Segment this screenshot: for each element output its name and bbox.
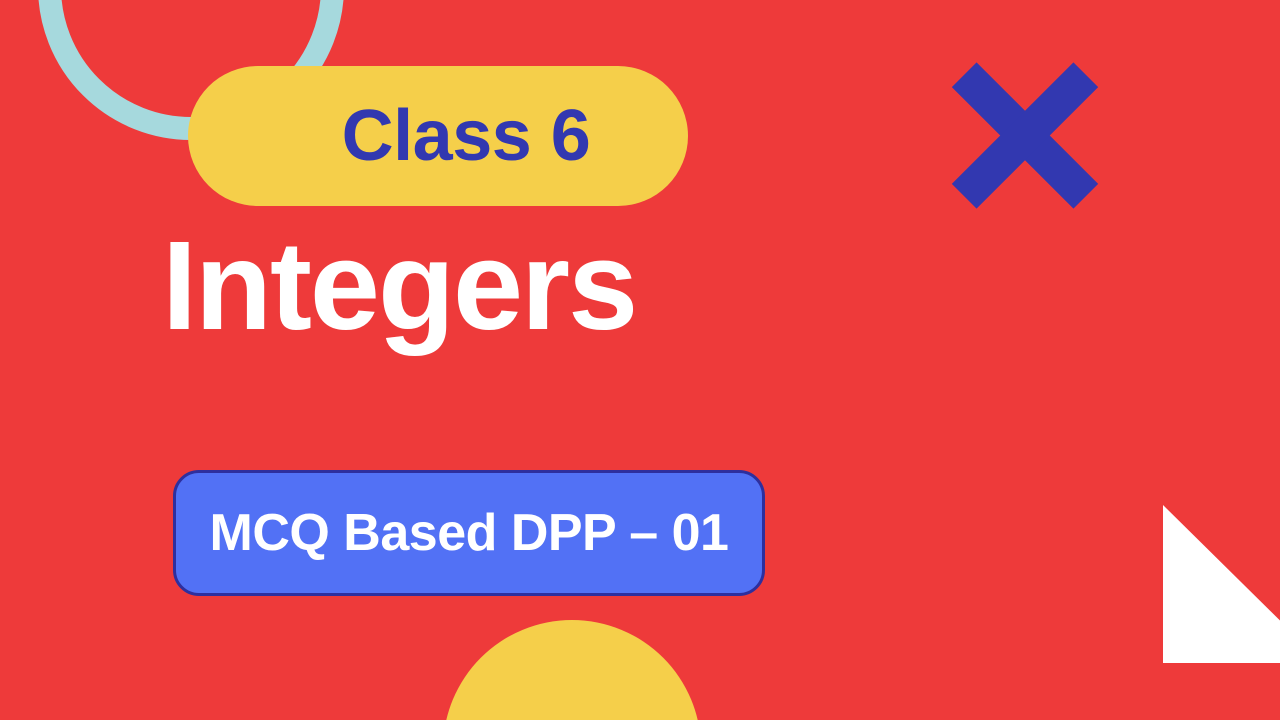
page-title: Integers — [162, 214, 636, 359]
cross-mark-icon — [952, 57, 1098, 213]
class-badge-label: Class 6 — [342, 100, 591, 172]
yellow-circle-icon — [443, 620, 701, 720]
class-badge: Class 6 — [188, 66, 688, 206]
cross-bar-backward — [952, 62, 1098, 208]
mcq-dpp-button-label: MCQ Based DPP – 01 — [210, 507, 729, 559]
white-triangle-icon — [1163, 505, 1280, 663]
slide-canvas: Class 6 Integers MCQ Based DPP – 01 — [0, 0, 1280, 720]
cross-bar-forward — [952, 62, 1098, 208]
mcq-dpp-button[interactable]: MCQ Based DPP – 01 — [173, 470, 765, 596]
